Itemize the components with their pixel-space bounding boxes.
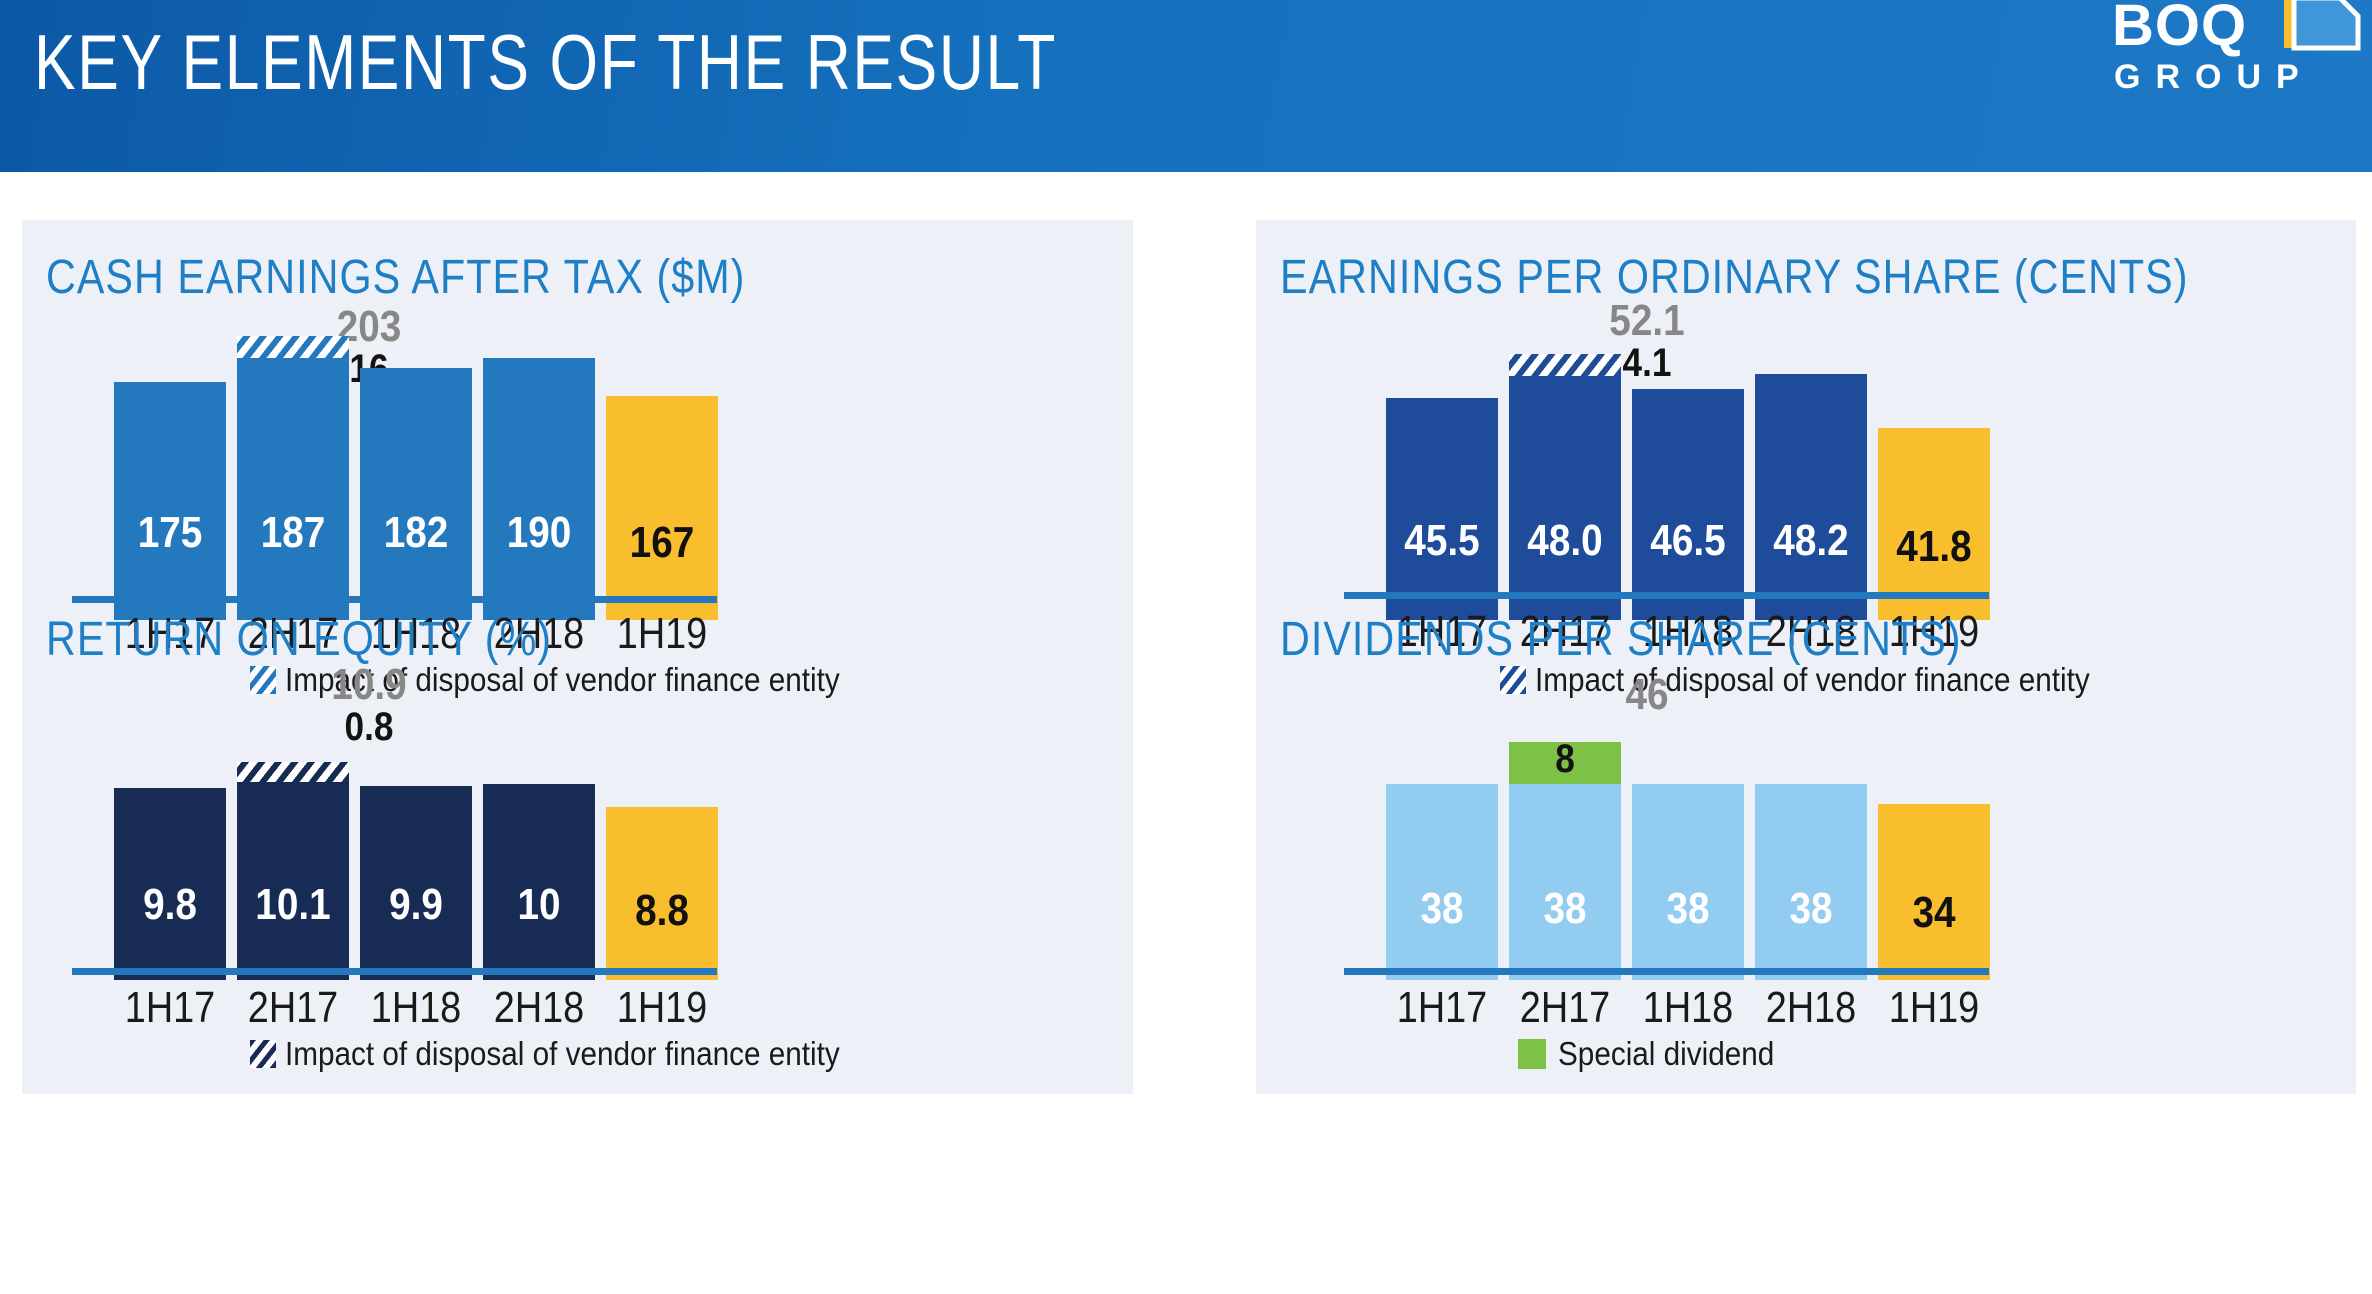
bar-value-1h19: 167	[613, 520, 712, 566]
logo-secondary-text: GROUP	[2114, 58, 2314, 96]
bar-2h17: 8 38	[1509, 662, 1621, 980]
bar-body-2h18	[483, 358, 595, 620]
chart-axis-line	[72, 596, 717, 603]
bar-value-1h17: 38	[1393, 886, 1492, 932]
xtick-1h18: 1H18	[1630, 984, 1747, 1032]
bar-1h17: 38	[1386, 662, 1498, 980]
bar-value-2h18: 38	[1762, 886, 1861, 932]
chart-legend-dividends-per-share: Special dividend	[1518, 1036, 1798, 1072]
bar-value-2h18: 48.2	[1762, 518, 1861, 564]
bar-2h17: 10.1	[237, 662, 349, 980]
xtick-2h17: 2H17	[1507, 984, 1624, 1032]
bar-2h18: 48.2	[1755, 318, 1867, 620]
bar-1h17: 45.5	[1386, 318, 1498, 620]
bar-body-2h17	[1509, 784, 1621, 980]
bar-2h17: 48.0	[1509, 318, 1621, 620]
bar-2h18: 38	[1755, 662, 1867, 980]
legend-green-swatch-icon	[1518, 1039, 1546, 1069]
chart-axis-line	[1344, 592, 1989, 599]
bar-hatch-overlay-2h17	[237, 762, 349, 782]
bar-value-1h19: 8.8	[613, 888, 712, 934]
bar-value-2h18: 190	[490, 510, 589, 556]
bar-1h19: 41.8	[1878, 318, 1990, 620]
chart-dividends-per-share: 46 38 8 38 38 38 34 1H17 2H17 1H18 2H18 …	[1256, 650, 2356, 980]
xtick-1h19: 1H19	[1876, 984, 1993, 1032]
bar-1h19: 167	[606, 314, 718, 620]
bar-value-2h17: 48.0	[1516, 518, 1615, 564]
logo-mark-icon	[2280, 0, 2362, 56]
xtick-2h18: 2H18	[1753, 984, 1870, 1032]
bar-value-1h18: 182	[367, 510, 466, 556]
legend-label: Special dividend	[1558, 1036, 1774, 1072]
bar-hatch-overlay-2h17	[1509, 354, 1621, 376]
bar-hatch-overlay-2h17	[237, 336, 349, 358]
bar-value-1h18: 38	[1639, 886, 1738, 932]
bar-value-2h17: 10.1	[244, 882, 343, 928]
legend-hatch-icon	[250, 1040, 276, 1068]
chart-cash-earnings: 203 16 175 187 182 190 167 1H17 2H17 1H1…	[22, 290, 1133, 620]
bar-1h17: 175	[114, 314, 226, 620]
bar-value-1h19: 41.8	[1885, 524, 1984, 570]
bar-1h17: 9.8	[114, 662, 226, 980]
xtick-2h17: 2H17	[235, 984, 352, 1032]
bar-2h18: 190	[483, 314, 595, 620]
xtick-2h18: 2H18	[481, 984, 598, 1032]
bar-value-1h19: 34	[1885, 890, 1984, 936]
bar-value-1h17: 9.8	[121, 882, 220, 928]
bar-body-2h17	[1509, 376, 1621, 620]
bar-body-1h17	[1386, 784, 1498, 980]
logo-primary-text: BOQ	[2112, 0, 2247, 56]
bar-body-1h17	[1386, 398, 1498, 620]
boq-group-logo: BOQ GROUP	[2112, 0, 2362, 126]
bar-body-1h18	[1632, 389, 1744, 620]
xtick-1h17: 1H17	[112, 984, 229, 1032]
bar-body-2h17	[237, 358, 349, 620]
bar-body-1h17	[114, 382, 226, 620]
bar-value-2h17: 38	[1516, 886, 1615, 932]
xtick-1h19: 1H19	[604, 984, 721, 1032]
legend-label: Impact of disposal of vendor finance ent…	[285, 1036, 840, 1072]
bar-2h18: 10	[483, 662, 595, 980]
bar-1h19: 34	[1878, 662, 1990, 980]
bar-body-2h18	[1755, 784, 1867, 980]
bar-2h17: 187	[237, 314, 349, 620]
chart-legend-return-on-equity: Impact of disposal of vendor finance ent…	[250, 1036, 901, 1072]
bar-value-2h17: 187	[244, 510, 343, 556]
bar-body-1h18	[1632, 784, 1744, 980]
page-header: KEY ELEMENTS OF THE RESULT BOQ GROUP	[0, 0, 2372, 172]
bar-body-2h18	[1755, 374, 1867, 620]
bar-1h19: 8.8	[606, 662, 718, 980]
xtick-1h18: 1H18	[358, 984, 475, 1032]
bar-body-1h19	[606, 396, 718, 620]
chart-axis-line	[1344, 968, 1989, 975]
bar-value-1h17: 45.5	[1393, 518, 1492, 564]
chart-earnings-per-share: 52.1 4.1 45.5 48.0 46.5 48.2 41.8 1H17 2…	[1256, 290, 2356, 620]
chart-axis-line	[72, 968, 717, 975]
bar-1h18: 9.9	[360, 662, 472, 980]
bar-value-2h18: 10	[490, 882, 589, 928]
bar-value-1h18: 46.5	[1639, 518, 1738, 564]
bar-1h18: 182	[360, 314, 472, 620]
chart-return-on-equity: 10.9 0.8 9.8 10.1 9.9 10 8.8 1H17 2H17 1…	[22, 650, 1133, 980]
bar-1h18: 46.5	[1632, 318, 1744, 620]
bar-value-1h17: 175	[121, 510, 220, 556]
page-title: KEY ELEMENTS OF THE RESULT	[34, 14, 1057, 110]
xtick-1h17: 1H17	[1384, 984, 1501, 1032]
bar-segment-label-2h17: 8	[1516, 738, 1615, 780]
bar-1h18: 38	[1632, 662, 1744, 980]
bar-value-1h18: 9.9	[367, 882, 466, 928]
bar-body-1h18	[360, 368, 472, 620]
